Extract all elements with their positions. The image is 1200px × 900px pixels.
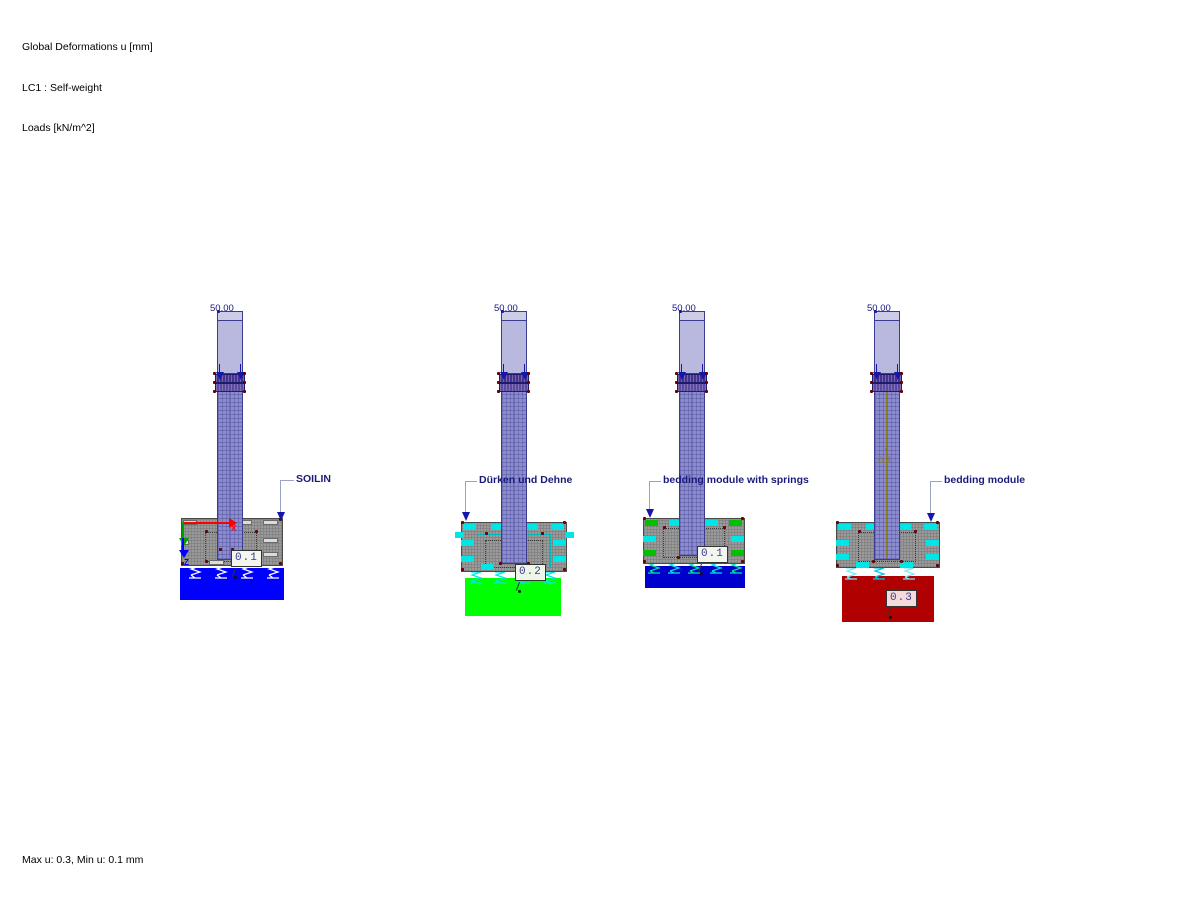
support-pad	[209, 560, 224, 565]
mesh-node	[870, 381, 873, 384]
column-band-lower	[499, 383, 529, 392]
callout-anchor-dot	[518, 590, 521, 593]
support-pad	[455, 532, 464, 538]
header-loads-unit: Loads [kN/m^2]	[22, 122, 153, 136]
support-pad	[565, 532, 574, 538]
mesh-node	[243, 381, 246, 384]
mesh-node	[936, 521, 939, 524]
deformation-value-callout[interactable]: 0.3	[886, 590, 917, 607]
mesh-node	[836, 521, 839, 524]
mesh-node	[900, 560, 903, 563]
mesh-node	[705, 381, 708, 384]
mesh-node	[900, 390, 903, 393]
leader-line-horizontal	[930, 481, 942, 482]
model-label: bedding module	[944, 474, 1025, 486]
model-soilin[interactable]: 50.00 X Z 0.1 SOILIN	[175, 300, 335, 610]
support-pad	[645, 520, 658, 526]
mesh-node	[675, 381, 678, 384]
mesh-node	[705, 390, 708, 393]
leader-arrow-icon	[462, 512, 470, 521]
load-value-label: 50.00	[867, 303, 891, 314]
support-pad	[705, 520, 718, 526]
support-pad	[461, 556, 474, 562]
support-pad	[731, 536, 744, 542]
deformation-value-callout[interactable]: 0.1	[231, 550, 262, 567]
column-centerline	[886, 390, 887, 558]
support-pad	[553, 540, 566, 546]
mesh-node	[497, 381, 500, 384]
mesh-node	[219, 548, 222, 551]
leader-arrow-icon	[927, 513, 935, 522]
leader-line-horizontal	[280, 480, 294, 481]
support-pad	[924, 524, 937, 530]
mesh-node	[497, 390, 500, 393]
mesh-node	[723, 526, 726, 529]
mesh-node	[872, 560, 875, 563]
column-centerline	[229, 390, 230, 558]
mesh-node	[527, 381, 530, 384]
load-arrow-head	[678, 372, 686, 380]
mesh-node	[900, 381, 903, 384]
leader-line-horizontal	[465, 481, 477, 482]
support-pad	[729, 520, 742, 526]
support-pad	[643, 536, 656, 542]
callout-anchor-dot	[700, 572, 703, 575]
column-shaft	[679, 388, 705, 556]
support-pad	[551, 524, 564, 530]
mesh-node	[741, 517, 744, 520]
mesh-node	[255, 530, 258, 533]
load-value-label: 50.00	[672, 303, 696, 314]
mesh-node	[243, 372, 246, 375]
mesh-node	[213, 381, 216, 384]
column-centerline	[691, 390, 692, 554]
mesh-node	[541, 532, 544, 535]
mesh-node	[643, 560, 646, 563]
load-arrow-head	[216, 372, 224, 380]
leader-line-vertical	[465, 481, 466, 516]
column-value-label: 0.3	[878, 455, 891, 465]
mesh-node	[675, 372, 678, 375]
axis-z-arrow-icon	[179, 550, 189, 558]
support-pad	[263, 520, 278, 525]
mesh-node	[741, 560, 744, 563]
leader-arrow-icon	[277, 512, 285, 521]
model-label: bedding module with springs	[663, 474, 809, 486]
support-pad	[926, 540, 939, 546]
mesh-node	[914, 530, 917, 533]
load-value-label: 50.00	[210, 303, 234, 314]
support-pad	[263, 538, 278, 543]
deformation-value-callout[interactable]: 0.1	[697, 546, 728, 563]
mesh-node	[936, 564, 939, 567]
mesh-node	[527, 372, 530, 375]
footer-summary: Max u: 0.3, Min u: 0.1 mm	[22, 854, 143, 866]
callout-anchor-dot	[889, 616, 892, 619]
mesh-node	[279, 562, 282, 565]
mesh-node	[499, 562, 502, 565]
callout-anchor-dot	[234, 576, 237, 579]
column-shaft	[874, 388, 900, 560]
support-pad	[461, 540, 474, 546]
mesh-node	[677, 556, 680, 559]
model-bedding-module-with-springs[interactable]: 50.00 0.1 bedding module with springs	[635, 300, 835, 610]
column-band-lower	[215, 383, 245, 392]
axis-y-arrow-icon	[179, 538, 189, 546]
support-pad	[926, 554, 939, 560]
support-pad	[836, 554, 849, 560]
leader-arrow-icon	[646, 509, 654, 518]
mesh-node	[705, 372, 708, 375]
header-loadcase: LC1 : Self-weight	[22, 82, 153, 96]
mesh-node	[900, 372, 903, 375]
column-band-lower	[677, 383, 707, 392]
header-block: Global Deformations u [mm] LC1 : Self-we…	[22, 14, 153, 163]
mesh-node	[243, 390, 246, 393]
support-pad	[856, 562, 869, 568]
mesh-node	[205, 560, 208, 563]
axis-x-line	[181, 522, 231, 524]
mesh-node	[858, 530, 861, 533]
mesh-node	[213, 390, 216, 393]
support-pad	[553, 556, 566, 562]
header-title: Global Deformations u [mm]	[22, 41, 153, 55]
axis-x-label: X	[231, 524, 236, 533]
mesh-node	[213, 372, 216, 375]
mesh-node	[205, 530, 208, 533]
load-value-label: 50.00	[494, 303, 518, 314]
leader-line-vertical	[280, 480, 281, 516]
mesh-node	[675, 390, 678, 393]
mesh-node	[870, 372, 873, 375]
mesh-node	[663, 526, 666, 529]
mesh-node	[485, 532, 488, 535]
column-value-node	[885, 448, 888, 451]
support-pad	[731, 550, 744, 556]
drawing-canvas: Global Deformations u [mm] LC1 : Self-we…	[0, 0, 1200, 900]
load-arrow-head	[873, 372, 881, 380]
column-band-lower	[872, 383, 902, 392]
axis-z-label: Z	[184, 558, 189, 567]
column-shaft	[217, 388, 243, 560]
support-pad	[463, 524, 476, 530]
model-label: Dürken und Dehne	[479, 474, 572, 486]
mesh-node	[461, 521, 464, 524]
mesh-node	[836, 564, 839, 567]
mesh-node	[527, 390, 530, 393]
support-pad	[643, 550, 656, 556]
model-duerken-und-dehne[interactable]: 50.00 0.2 Dürken und Dehne	[455, 300, 645, 625]
deformation-value-callout[interactable]: 0.2	[515, 564, 546, 581]
support-pad	[263, 552, 278, 557]
mesh-node	[461, 568, 464, 571]
support-pad	[836, 540, 849, 546]
support-pad	[838, 524, 851, 530]
leader-line-vertical	[930, 481, 931, 517]
support-pad	[481, 564, 494, 570]
model-bedding-module[interactable]: 0.3 50.00 0.3 bedding module	[830, 300, 1030, 640]
load-arrow-head	[500, 372, 508, 380]
model-label: SOILIN	[296, 473, 331, 485]
mesh-node	[563, 521, 566, 524]
mesh-node	[497, 372, 500, 375]
mesh-node	[870, 390, 873, 393]
mesh-node	[563, 568, 566, 571]
leader-line-horizontal	[649, 481, 661, 482]
